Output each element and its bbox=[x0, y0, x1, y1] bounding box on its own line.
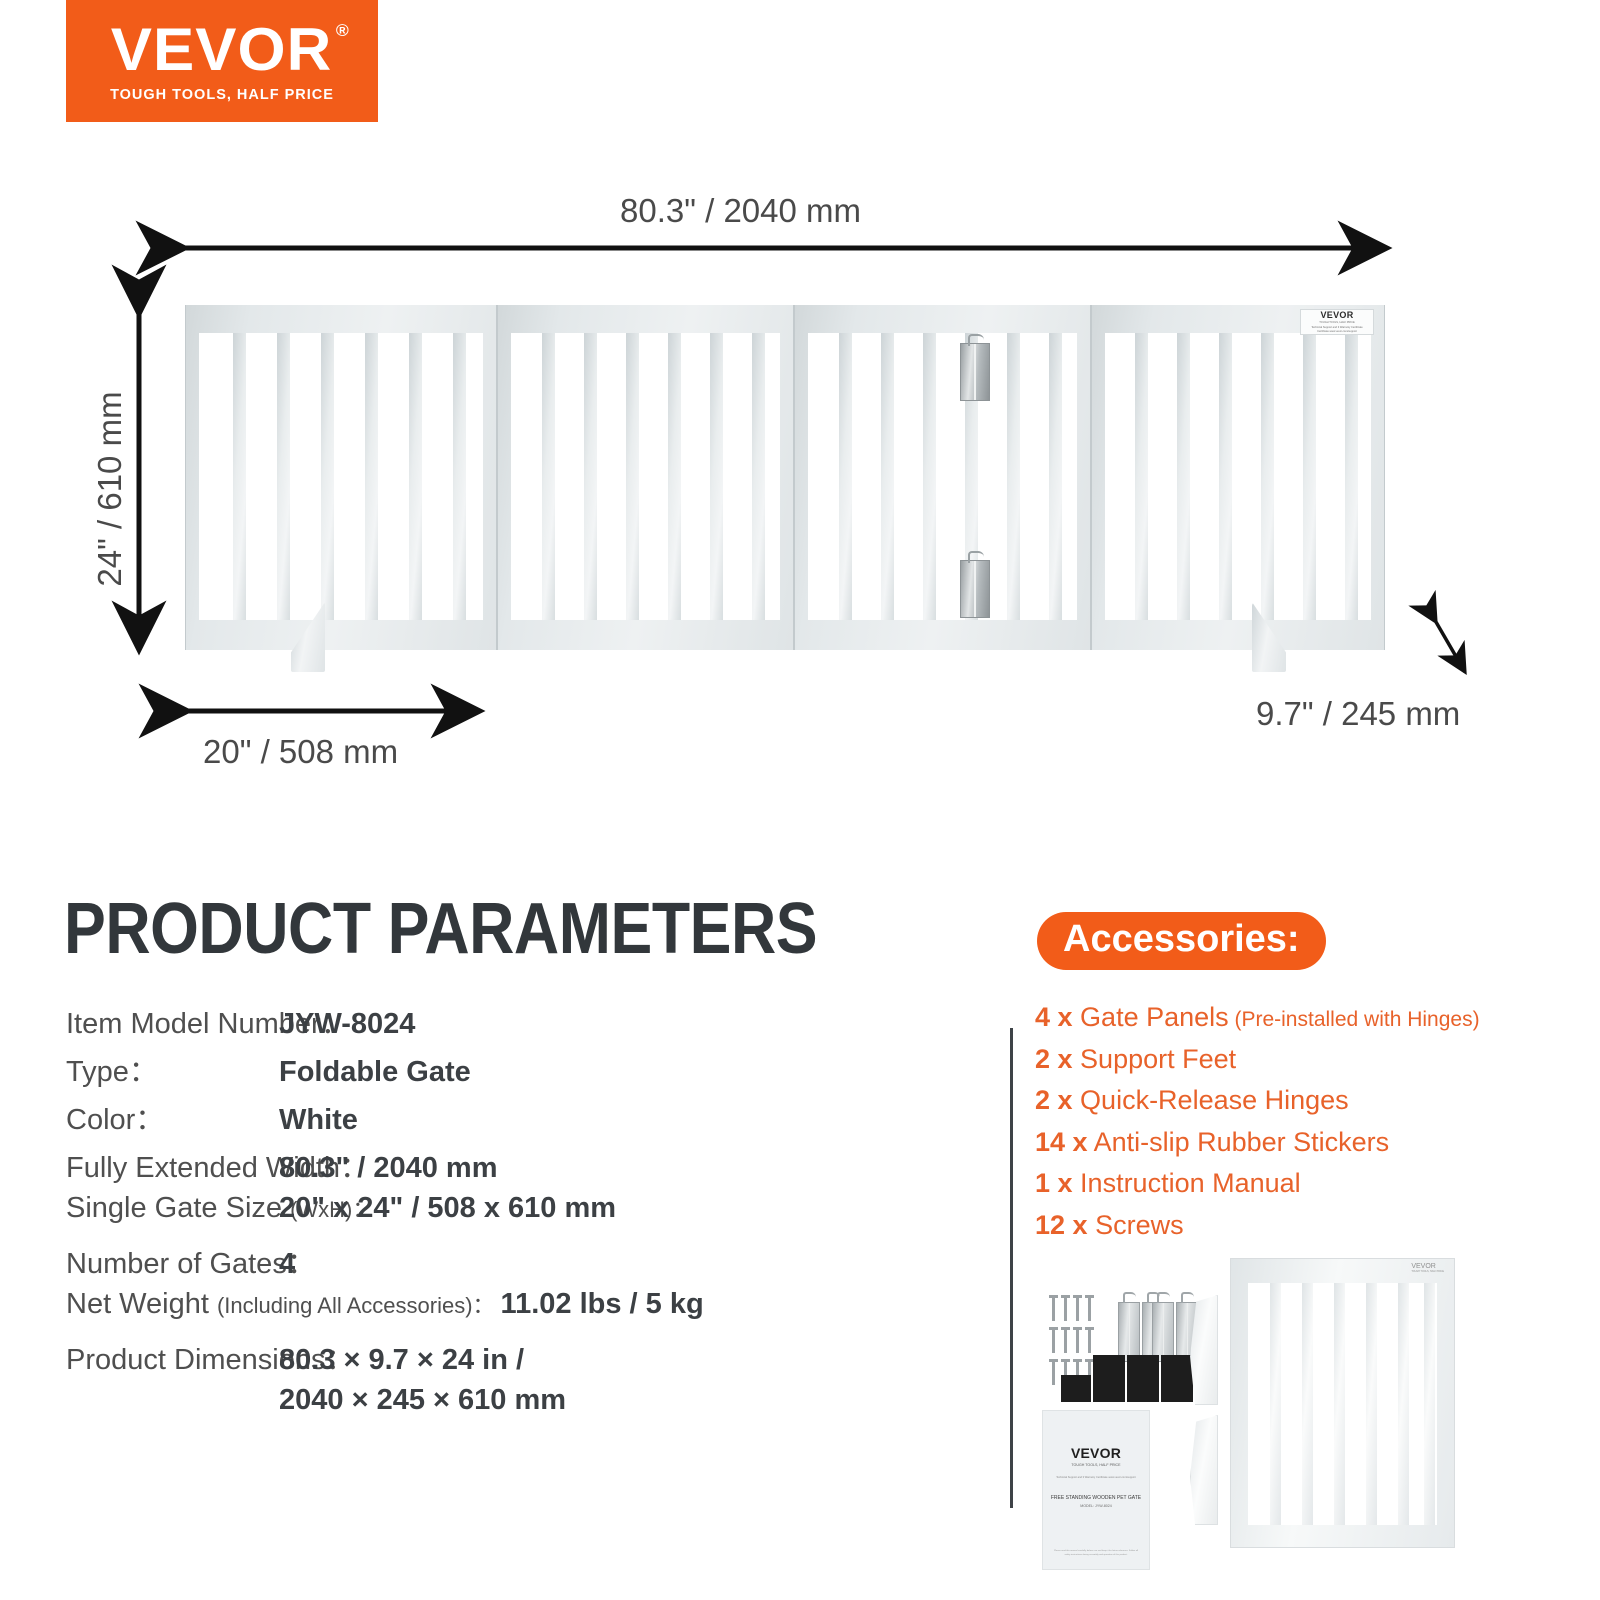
param-key: Product Dimensions： bbox=[66, 1336, 279, 1378]
param-value: Foldable Gate bbox=[279, 1056, 471, 1089]
accessory-label: Screws bbox=[1088, 1210, 1184, 1240]
accessory-label: Support Feet bbox=[1073, 1044, 1237, 1074]
accessories-photo: VEVOR TOUGH TOOLS, HALF PRICE Technical … bbox=[1030, 1250, 1590, 1580]
list-item: 12 x Screws bbox=[1035, 1206, 1580, 1248]
accessories-badge: Accessories: bbox=[1037, 912, 1326, 970]
accessories-list: 4 x Gate Panels (Pre-installed with Hing… bbox=[1035, 998, 1580, 1247]
single-gate-width-label: 20" / 508 mm bbox=[203, 733, 398, 771]
overall-width-label: 80.3" / 2040 mm bbox=[620, 192, 861, 230]
param-value: 20" x 24" / 508 x 610 mm bbox=[279, 1192, 616, 1225]
overall-height-label: 24" / 610 mm bbox=[91, 324, 129, 654]
param-key: Number of Gates： bbox=[66, 1240, 279, 1282]
accessory-qty: 2 x bbox=[1035, 1044, 1073, 1074]
accessory-qty: 1 x bbox=[1035, 1168, 1073, 1198]
param-key: Color： bbox=[66, 1096, 279, 1138]
table-row: Product Dimensions： 80.3 × 9.7 × 24 in / bbox=[66, 1336, 956, 1384]
manual-support-line: Technical Support and 3 Warranty Certifi… bbox=[1056, 1476, 1135, 1479]
accessory-label: Anti-slip Rubber Stickers bbox=[1088, 1127, 1390, 1157]
list-item: 1 x Instruction Manual bbox=[1035, 1164, 1580, 1206]
list-item: 4 x Gate Panels (Pre-installed with Hing… bbox=[1035, 998, 1580, 1040]
manual-brand: VEVOR bbox=[1071, 1445, 1121, 1461]
list-item: 2 x Quick-Release Hinges bbox=[1035, 1081, 1580, 1123]
param-value: 11.02 lbs / 5 kg bbox=[501, 1288, 704, 1321]
table-row: Fully Extended Width： 80.3" / 2040 mm bbox=[66, 1144, 956, 1192]
accessory-qty: 4 x bbox=[1035, 1002, 1073, 1032]
table-row: Single Gate Size (WxH)： 20" x 24" / 508 … bbox=[66, 1192, 956, 1240]
manual-footnote: Please read this manual carefully before… bbox=[1043, 1550, 1149, 1557]
accessory-qty: 2 x bbox=[1035, 1085, 1073, 1115]
list-item: 2 x Support Feet bbox=[1035, 1040, 1580, 1082]
param-key: Type： bbox=[66, 1048, 279, 1090]
support-foot-piece-2 bbox=[1190, 1415, 1218, 1525]
manual-tagline: TOUGH TOOLS, HALF PRICE bbox=[1071, 1463, 1120, 1467]
gate-panel-sample: VEVOR TOUGH TOOLS, HALF PRICE bbox=[1230, 1258, 1455, 1548]
panel-vevor-sticker: VEVOR TOUGH TOOLS, HALF PRICE bbox=[1411, 1263, 1444, 1273]
product-dimension-diagram: VEVOR TOUGH TOOLS, HALF PRICE Technical … bbox=[0, 0, 1600, 830]
table-row: Item Model Number： JYW-8024 bbox=[66, 1000, 956, 1048]
table-row: 2040 × 245 × 610 mm bbox=[66, 1384, 956, 1432]
page-title: PRODUCT PARAMETERS bbox=[64, 888, 817, 970]
manual-product-title: FREE STANDING WOODEN PET GATE bbox=[1051, 1495, 1141, 1501]
param-value: 80.3" / 2040 mm bbox=[279, 1152, 498, 1185]
table-row: Type： Foldable Gate bbox=[66, 1048, 956, 1096]
param-value: JYW-8024 bbox=[279, 1008, 415, 1041]
panel-opening bbox=[1248, 1283, 1437, 1525]
table-row: Color： White bbox=[66, 1096, 956, 1144]
param-key: Fully Extended Width： bbox=[66, 1144, 279, 1186]
accessory-label: Instruction Manual bbox=[1073, 1168, 1301, 1198]
param-value: 4 bbox=[279, 1248, 295, 1281]
param-value: 80.3 × 9.7 × 24 in / bbox=[279, 1344, 524, 1377]
param-key: Item Model Number： bbox=[66, 1000, 279, 1042]
param-key: Single Gate Size (WxH)： bbox=[66, 1192, 279, 1225]
accessory-label: Gate Panels bbox=[1073, 1002, 1229, 1032]
accessory-note: (Pre-installed with Hinges) bbox=[1229, 1008, 1480, 1031]
param-value: White bbox=[279, 1104, 358, 1137]
accessory-qty: 12 x bbox=[1035, 1210, 1088, 1240]
product-parameters-table: Item Model Number： JYW-8024 Type： Foldab… bbox=[66, 1000, 956, 1432]
param-key: Net Weight (Including All Accessories)： bbox=[66, 1288, 495, 1321]
depth-label: 9.7" / 245 mm bbox=[1256, 695, 1460, 733]
accessory-qty: 14 x bbox=[1035, 1127, 1088, 1157]
instruction-manual: VEVOR TOUGH TOOLS, HALF PRICE Technical … bbox=[1042, 1410, 1150, 1570]
manual-model: MODEL: JYW-8024 bbox=[1080, 1504, 1112, 1508]
accessory-label: Quick-Release Hinges bbox=[1073, 1085, 1349, 1115]
table-row: Number of Gates： 4 bbox=[66, 1240, 956, 1288]
param-value: 2040 × 245 × 610 mm bbox=[279, 1384, 566, 1417]
section-divider bbox=[1010, 1028, 1013, 1508]
list-item: 14 x Anti-slip Rubber Stickers bbox=[1035, 1123, 1580, 1165]
table-row: Net Weight (Including All Accessories)： … bbox=[66, 1288, 956, 1336]
